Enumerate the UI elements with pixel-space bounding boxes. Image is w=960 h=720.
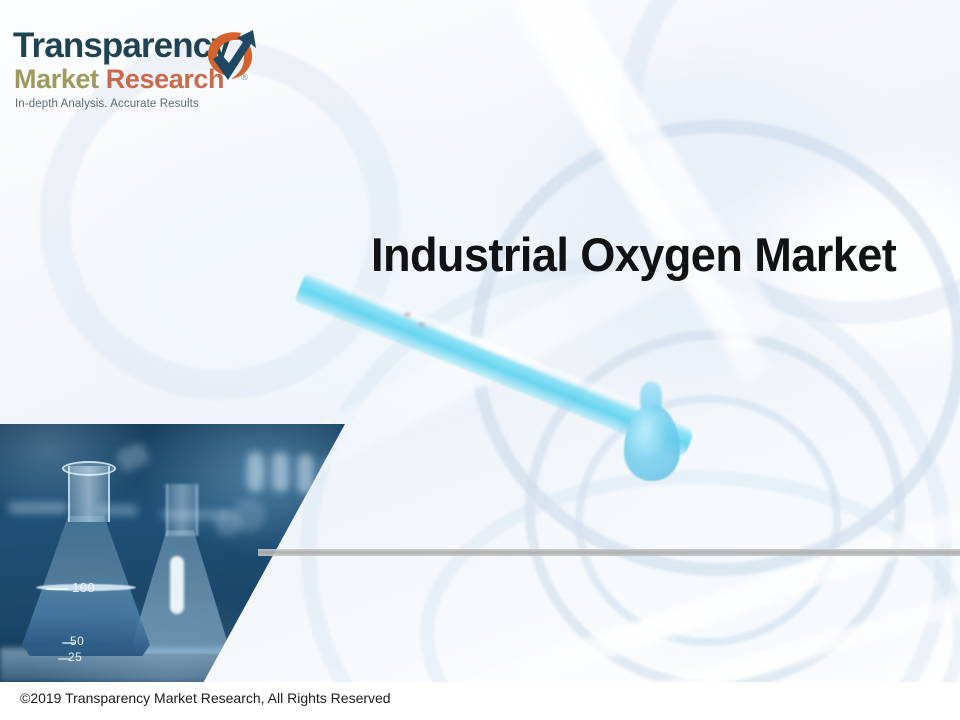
checkmark-swoosh-logo-mark-icon [199,26,261,88]
flask-graduation-label-100: 100 [72,580,95,595]
background-fleck [404,312,411,317]
flask-graduation-label-50: 50 [70,634,84,648]
flask-neck [166,484,198,536]
background-fleck [418,322,425,327]
flask-neck [68,466,110,522]
presentation-slide: 100 50 25 Transparency Market Research I… [0,0,960,720]
company-logo[interactable]: Transparency Market Research In-depth An… [13,28,253,124]
logo-word-market: Market [14,64,99,94]
flask-graduation-tick [46,588,68,590]
copyright-text: ©2019 Transparency Market Research, All … [20,690,391,706]
registered-trademark-icon: ® [241,72,248,82]
logo-wordmark-market-research: Market Research [14,66,224,93]
logo-tagline: In-depth Analysis. Accurate Results [15,98,199,110]
flask-graduation-label-25: 25 [68,650,82,664]
bokeh-shape [247,452,264,492]
page-title: Industrial Oxygen Market [371,229,923,282]
front-flask-icon: 100 50 25 [22,466,150,656]
logo-wordmark-transparency: Transparency [13,28,230,63]
horizontal-divider [258,549,960,556]
bokeh-shape [272,452,289,492]
flask-stir-bar [170,556,184,614]
bokeh-shape [232,498,266,532]
